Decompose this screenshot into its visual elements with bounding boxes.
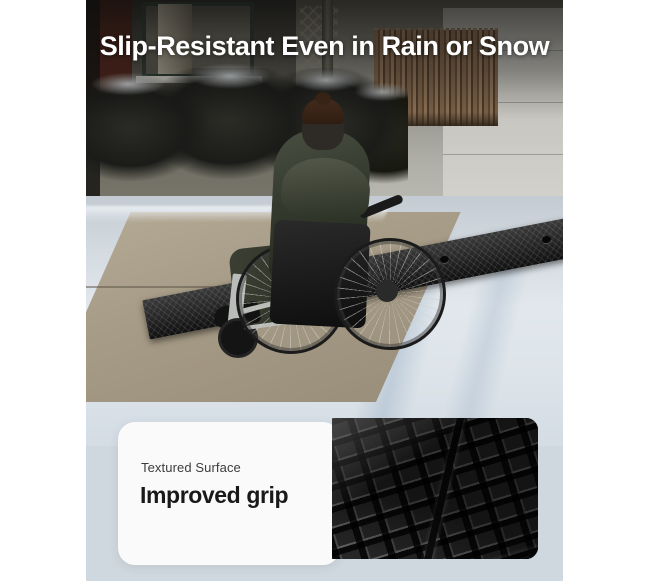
headline-text: Slip-Resistant Even in Rain or Snow [86, 29, 563, 63]
right-white-margin [563, 0, 650, 581]
info-card-title: Improved grip [140, 482, 288, 509]
promo-image-canvas: Slip-Resistant Even in Rain or Snow Text… [0, 0, 650, 581]
info-card: Textured Surface Improved grip [118, 422, 340, 565]
wheelchair-wheel-hub [376, 280, 398, 302]
texture-closeup-photo [332, 418, 538, 559]
ramp-drain-hole [541, 235, 551, 244]
left-white-margin [0, 0, 86, 581]
garage-panel-line [443, 154, 563, 155]
ramp-drain-hole [439, 255, 449, 264]
info-card-eyebrow: Textured Surface [141, 460, 241, 475]
texture-sheen [332, 418, 538, 559]
